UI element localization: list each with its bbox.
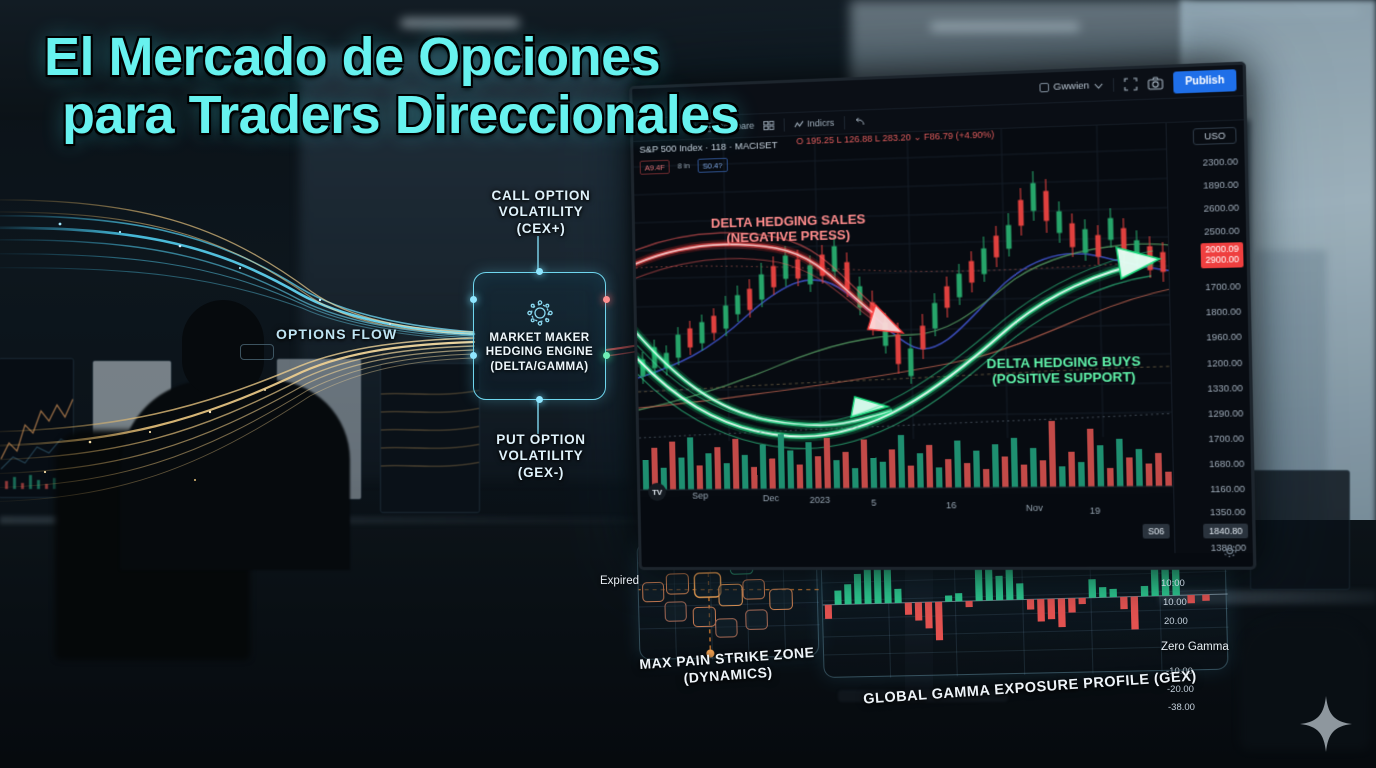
x-tick: 16 xyxy=(946,500,957,510)
expired-label: Expired xyxy=(600,575,639,587)
gex-y-tick: -38.00 xyxy=(1168,702,1195,713)
badge-red: A9.4F xyxy=(640,160,670,175)
undo-icon[interactable] xyxy=(854,117,866,127)
settings-gear-icon[interactable] xyxy=(1222,544,1238,559)
layout-icon xyxy=(1039,83,1049,93)
indicators-icon xyxy=(794,119,804,128)
put-option-line-3: (GEX-) xyxy=(466,465,616,481)
y-tick: 1890.00 xyxy=(1203,179,1239,191)
y-tick: 1700.00 xyxy=(1205,281,1241,292)
options-flow-label: OPTIONS FLOW xyxy=(276,326,397,343)
divider xyxy=(1113,78,1114,92)
y-tick: 1960.00 xyxy=(1206,331,1242,342)
title-line-1: El Mercado de Opciones xyxy=(44,28,739,86)
gex-y-tick: 10:00 xyxy=(1161,578,1185,589)
engine-line-1: MARKET MAKER xyxy=(486,331,593,345)
gear-icon xyxy=(525,298,555,328)
x-tick: Sep xyxy=(692,491,708,501)
y-tick: 1330.00 xyxy=(1207,383,1243,394)
x-tick: 2023 xyxy=(810,495,831,505)
input-node-dot-bottom xyxy=(470,352,477,359)
sparkle-icon xyxy=(1300,696,1352,752)
call-option-line-3: (CEX+) xyxy=(466,221,616,237)
flow-streams-gold xyxy=(0,200,474,502)
x-tick: Nov xyxy=(1026,503,1043,513)
put-node-dot xyxy=(536,396,543,403)
market-maker-hedging-engine-box[interactable]: MARKET MAKER HEDGING ENGINE (DELTA/GAMMA… xyxy=(473,272,606,400)
put-option-line-2: VOLATILITY xyxy=(466,448,616,464)
grid-icon[interactable] xyxy=(763,120,774,130)
badge-blue: S0.4? xyxy=(698,158,728,173)
y-tick: 2300.00 xyxy=(1202,156,1238,168)
badge-plain: 8 in xyxy=(673,159,693,174)
indicators-label: Indicrs xyxy=(807,118,834,129)
time-axis: Sep Dec 2023 5 16 Nov 19 xyxy=(640,485,1180,511)
price-axis[interactable]: USO 2300.00 1890.00 2600.00 2500.00 2000… xyxy=(1165,120,1252,553)
camera-icon[interactable] xyxy=(1147,76,1163,90)
gex-y-tick: 10.00 xyxy=(1163,597,1187,608)
put-option-line-1: PUT OPTION xyxy=(466,432,616,448)
currency-badge: USO xyxy=(1193,127,1236,145)
y-tick: 2600.00 xyxy=(1203,202,1239,213)
price-chart-plot[interactable]: DELTA HEDGING SALES (NEGATIVE PRESS) DEL… xyxy=(633,123,1179,497)
current-price-line-2: 2900.00 xyxy=(1205,255,1239,266)
screenshot-stage: El Mercado de Opciones para Traders Dire… xyxy=(0,0,1376,768)
y-tick: 1200.00 xyxy=(1207,358,1243,369)
y-tick: 1800.00 xyxy=(1206,306,1242,317)
chevron-down-icon xyxy=(1094,82,1104,89)
fullscreen-icon[interactable] xyxy=(1123,77,1137,91)
y-tick: 1680.00 xyxy=(1209,458,1245,469)
y-tick: 2500.00 xyxy=(1204,225,1240,236)
y-tick: 1350.00 xyxy=(1210,507,1246,518)
zero-gamma-label: Zero Gamma xyxy=(1161,641,1229,653)
x-tick: 5 xyxy=(871,498,876,508)
call-option-label: CALL OPTION VOLATILITY (CEX+) xyxy=(466,188,616,237)
x-tick: Dec xyxy=(763,493,779,503)
divider xyxy=(843,116,844,129)
symbol-badges: A9.4F 8 in S0.4? xyxy=(640,158,728,175)
put-option-label: PUT OPTION VOLATILITY (GEX-) xyxy=(466,432,616,481)
title-line-2: para Traders Direccionales xyxy=(62,86,739,144)
input-node-dot-top xyxy=(470,296,477,303)
x-tick: 19 xyxy=(1090,505,1101,515)
put-connector-line xyxy=(536,398,540,434)
output-node-dot-green xyxy=(603,352,610,359)
call-option-line-1: CALL OPTION xyxy=(466,188,616,204)
crosshair-tag: S06 xyxy=(1142,524,1169,539)
y-tick: 1290.00 xyxy=(1208,408,1244,419)
divider xyxy=(784,118,785,131)
annotation-green-line-2: (POSITIVE SUPPORT) xyxy=(992,369,1136,387)
flow-streams-blue xyxy=(0,216,474,340)
engine-line-3: (DELTA/GAMMA) xyxy=(486,360,593,374)
call-option-line-2: VOLATILITY xyxy=(466,204,616,220)
call-node-dot xyxy=(536,268,543,275)
gex-y-tick: 20.00 xyxy=(1164,616,1188,627)
layout-selector[interactable]: Gwwien xyxy=(1039,80,1103,94)
background-monitor xyxy=(1250,470,1350,590)
indicators-button[interactable]: Indicrs xyxy=(794,118,835,130)
page-title: El Mercado de Opciones para Traders Dire… xyxy=(44,28,739,145)
flow-particles xyxy=(44,223,391,481)
current-price-badge: 2000.09 2900.00 xyxy=(1201,242,1244,268)
publish-button[interactable]: Publish xyxy=(1173,69,1237,93)
y-tick: 1700.00 xyxy=(1208,433,1244,444)
output-node-dot-red xyxy=(603,296,610,303)
engine-line-2: HEDGING ENGINE xyxy=(486,345,593,359)
crosshair-price-badge: 1840.80 xyxy=(1203,524,1248,539)
y-tick: 1160.00 xyxy=(1210,484,1245,495)
layout-label: Gwwien xyxy=(1053,80,1089,93)
